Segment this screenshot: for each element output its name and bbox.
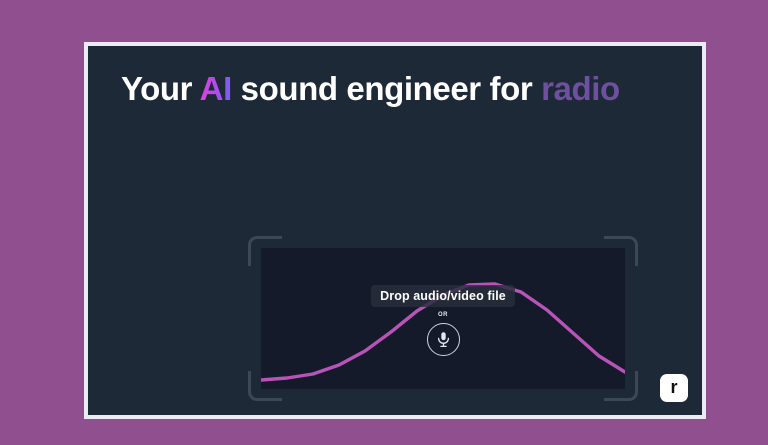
file-drop-target[interactable]: Drop audio/video file OR: [261, 248, 625, 389]
dropzone-content: Drop audio/video file OR: [261, 248, 625, 389]
record-microphone-button[interactable]: [427, 323, 460, 356]
microphone-icon: [436, 331, 451, 348]
headline-part-1: Your: [121, 70, 200, 107]
page-title: Your AI sound engineer for radio: [121, 71, 677, 107]
or-separator-label: OR: [438, 312, 448, 318]
brand-logo-badge: r: [660, 374, 688, 402]
headline-radio-highlight: radio: [541, 70, 620, 107]
brand-logo-glyph: r: [670, 378, 677, 396]
drop-file-label: Drop audio/video file: [371, 285, 515, 307]
headline-ai-highlight: AI: [200, 70, 232, 107]
headline-part-2: sound engineer for: [232, 70, 541, 107]
presentation-frame: Your AI sound engineer for radio Drop au…: [84, 42, 706, 419]
dropzone-region: Drop audio/video file OR: [248, 236, 638, 401]
